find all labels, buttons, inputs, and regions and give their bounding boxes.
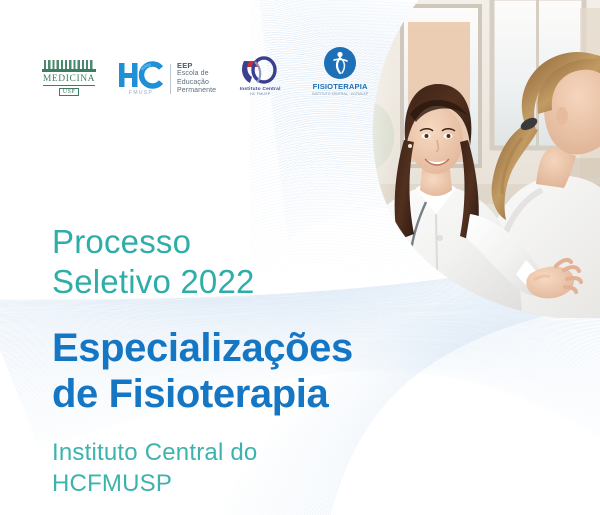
promotional-banner: MEDICINA USP FMUSP EE	[0, 0, 600, 515]
kicker-line-1: Processo	[52, 222, 353, 262]
logo-fisioterapia: FISIOTERAPIA INSTITUTO CENTRAL · HCFMUSP	[306, 46, 374, 96]
logo-eep-line-3: Permanente	[177, 87, 216, 96]
logo-fisioterapia-subtitle: INSTITUTO CENTRAL · HCFMUSP	[312, 92, 368, 96]
organization-line-2: HCFMUSP	[52, 469, 353, 499]
headline-block: Processo Seletivo 2022 Especializações d…	[52, 222, 353, 499]
hc-monogram-icon: FMUSP	[118, 61, 164, 96]
title-line-1: Especializações	[52, 325, 353, 371]
logo-hc-mark-sub: FMUSP	[129, 90, 153, 96]
logo-eep-line-1: Escola de	[177, 70, 216, 79]
logo-medicina-title: MEDICINA	[43, 74, 95, 84]
kicker-line-2: Seletivo 2022	[52, 262, 353, 302]
organization-line-1: Instituto Central do	[52, 438, 353, 468]
logo-fisioterapia-title: FISIOTERAPIA	[313, 82, 368, 91]
logo-eep-line-2: Educação	[177, 79, 216, 88]
logo-divider	[170, 64, 171, 94]
title-line-2: de Fisioterapia	[52, 371, 353, 417]
logo-medicina-usp: MEDICINA USP	[38, 60, 100, 96]
spine-figure-icon	[323, 46, 357, 80]
logo-hc-eep: FMUSP EEP Escola de Educação Permanente	[118, 61, 216, 96]
logo-medicina-subtitle: USP	[59, 88, 80, 96]
abstract-ring-icon	[238, 55, 282, 85]
classical-building-icon	[42, 60, 96, 73]
logo-instituto-central: Instituto Central HC FMUSP	[230, 55, 290, 96]
partner-logo-bar: MEDICINA USP FMUSP EE	[38, 46, 374, 96]
logo-eep-title: EEP	[177, 61, 216, 70]
logo-instituto-central-subtitle: HC FMUSP	[250, 92, 270, 96]
logo-medicina-rule	[43, 85, 95, 86]
